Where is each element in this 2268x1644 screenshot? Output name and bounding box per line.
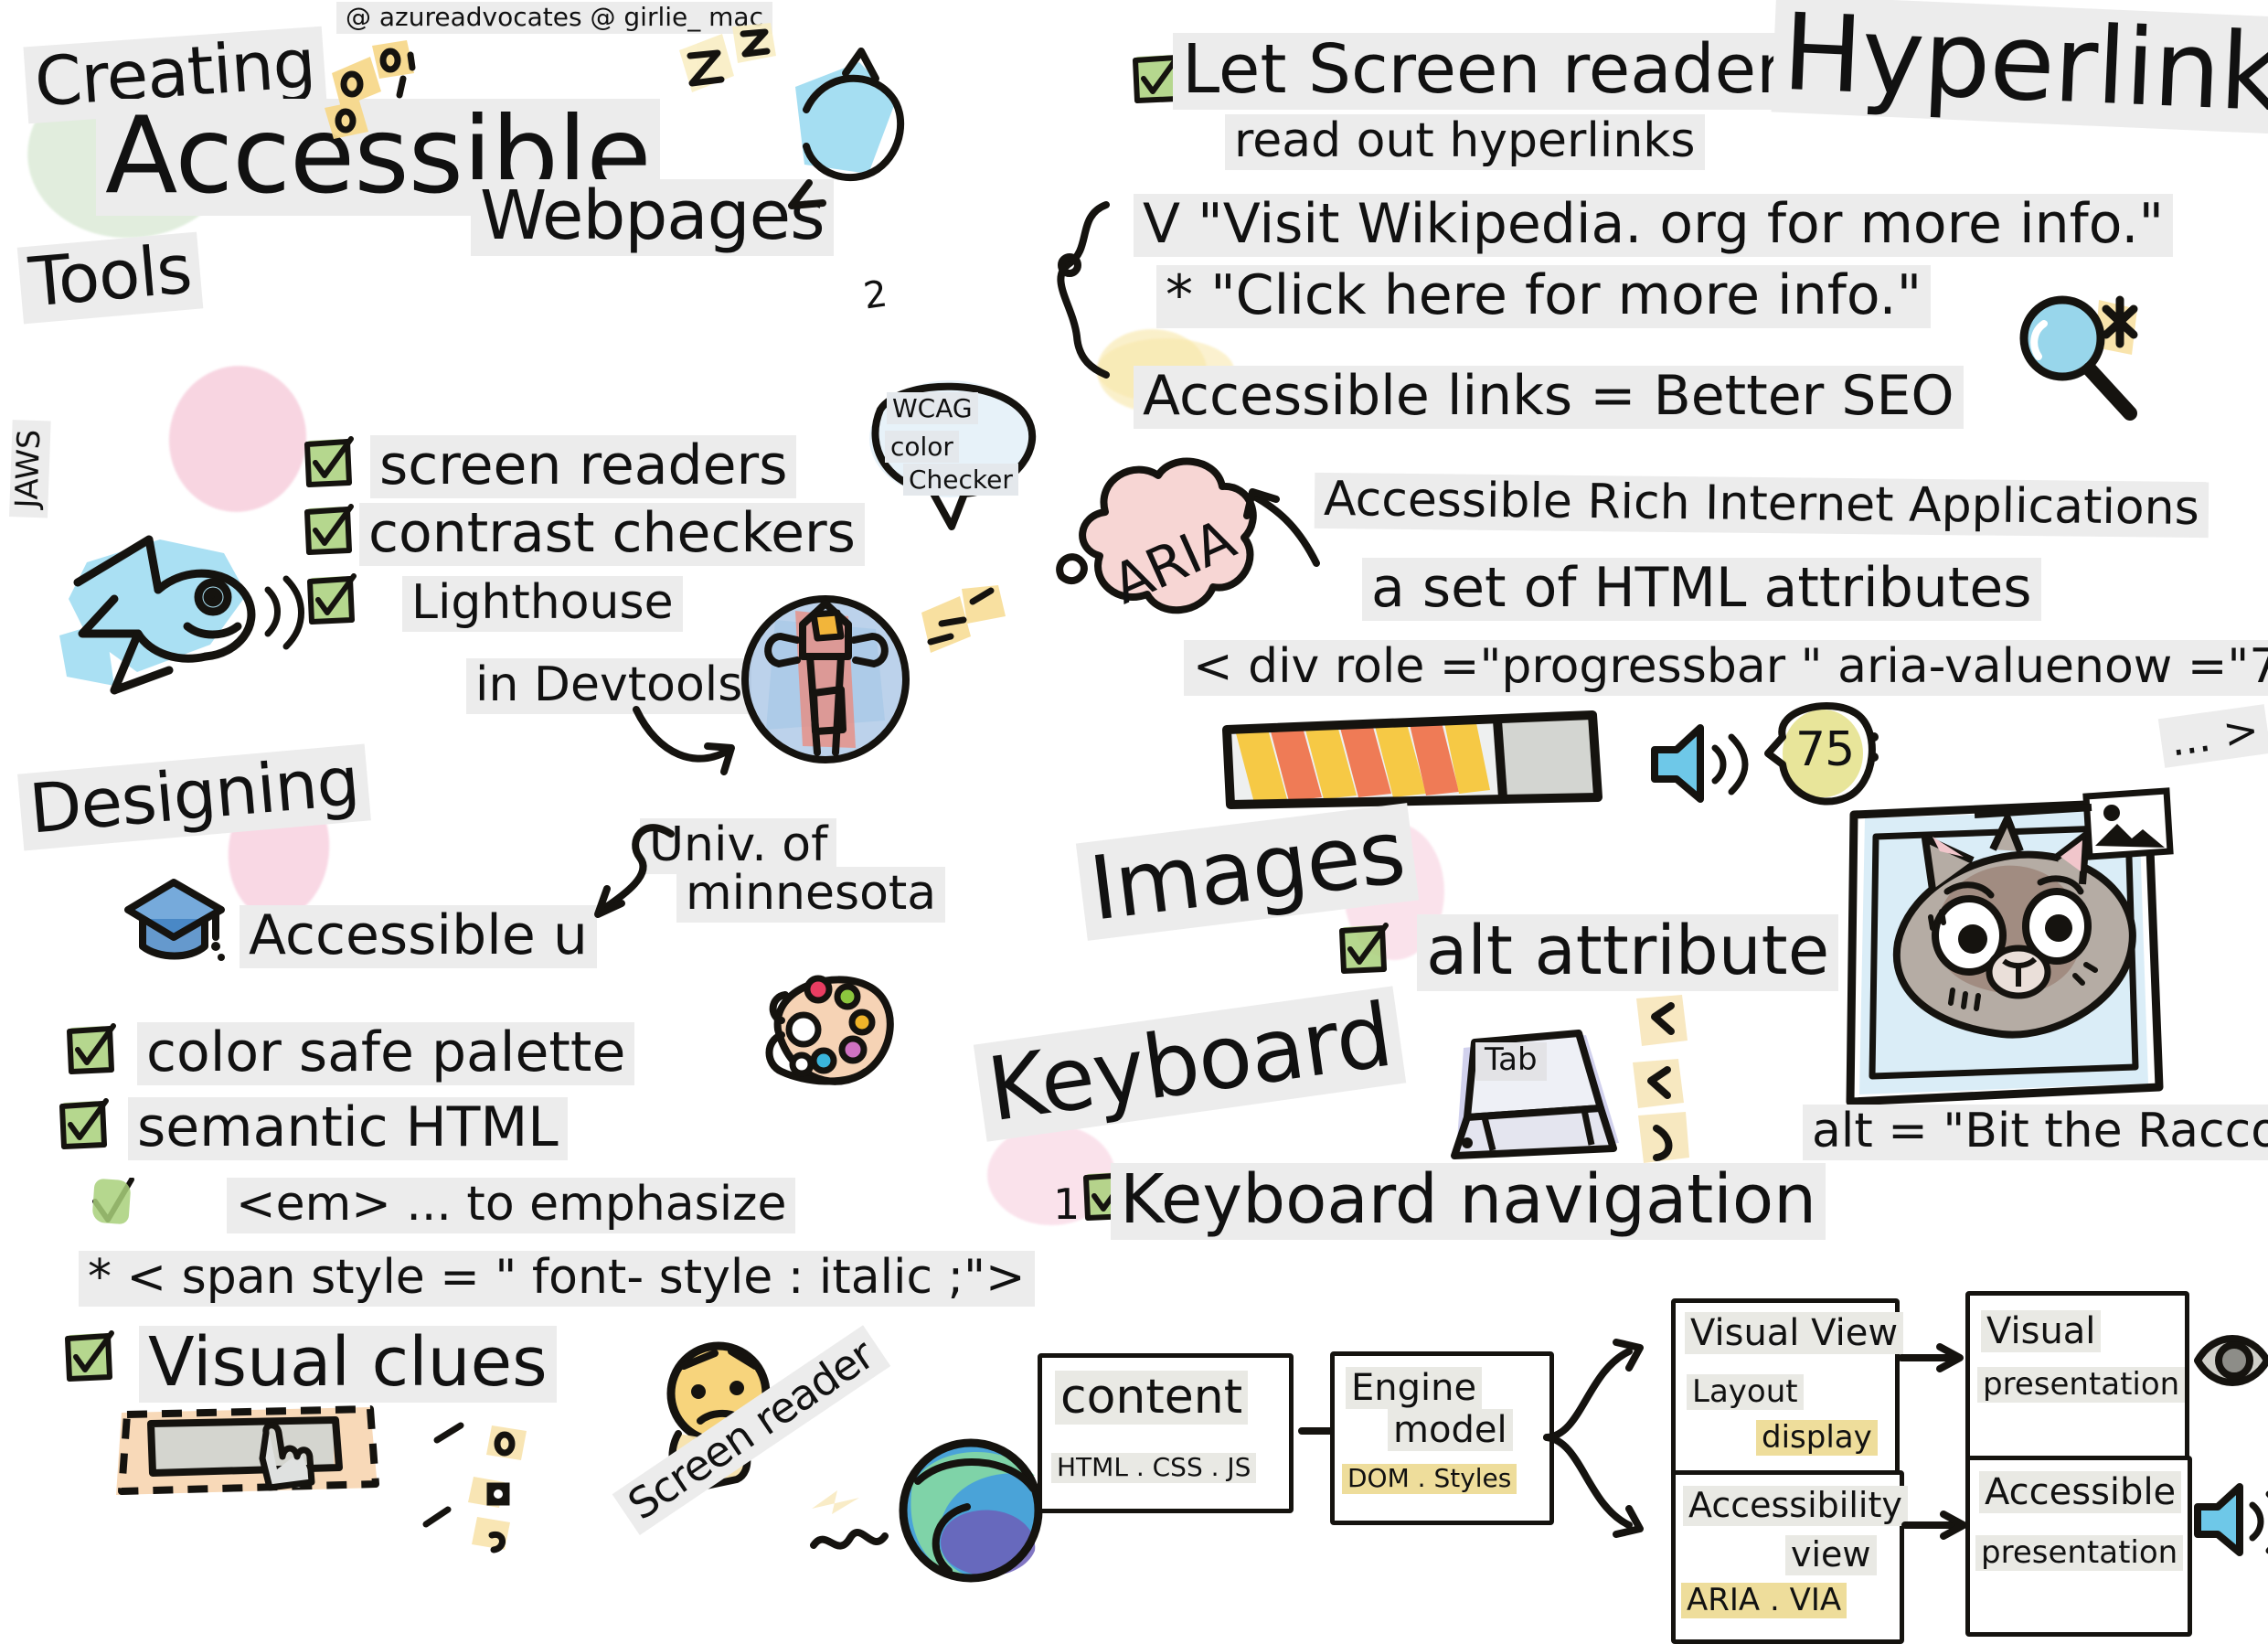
aria-code-left: < div role ="progressbar " aria-valuenow… — [1184, 640, 2268, 696]
tools-item-label: Lighthouse — [402, 576, 683, 632]
tools-item-lighthouse: Lighthouse — [402, 576, 683, 632]
hyperlinks-rule-line1-text: Let Screen reader — [1173, 33, 1794, 110]
wcag-line3-text: Checker — [903, 464, 1018, 496]
doodle-squiggle-edge — [804, 1490, 914, 1573]
checkbox-alt-attribute[interactable] — [1336, 923, 1388, 975]
node-sub: ARIA . VIA — [1681, 1583, 1847, 1618]
wcag-bubble-line3: Checker — [903, 464, 1018, 495]
tools-item-screen-readers: screen readers — [370, 435, 796, 498]
flow-node-accessibility-view: Accessibility view ARIA . VIA — [1671, 1470, 1895, 1635]
aria-definition: a set of HTML attributes — [1362, 558, 2041, 621]
checkbox-color-safe-palette[interactable] — [64, 1024, 115, 1075]
flow-visual-pres-sub: presentation — [1977, 1367, 2185, 1403]
graduation-cap-icon — [121, 873, 230, 974]
node-sub: HTML . CSS . JS — [1051, 1453, 1256, 1483]
doodle-sparkles-bottom-left — [421, 1422, 539, 1568]
keyboard-item-prefix-text: 1 — [1053, 1180, 1080, 1229]
designing-course-text: Accessible u — [240, 905, 597, 968]
lighthouse-icon — [739, 592, 912, 766]
hyperlinks-bad-example-text: * "Click here for more info." — [1156, 265, 1931, 328]
designing-course-source-line2: minnesota — [676, 867, 945, 923]
wcag-bubble-line2: color — [885, 432, 959, 462]
images-item-alt-attribute: alt attribute — [1417, 914, 1838, 991]
confetti-doodle-top — [315, 37, 480, 155]
aria-expansion-text: Accessible Rich Internet Applications — [1315, 473, 2209, 538]
flow-node-visual-view: Visual View Layout display — [1671, 1298, 1890, 1477]
designing-item-color-safe-palette: color safe palette — [137, 1022, 634, 1085]
arrow-aria-to-expansion — [1216, 475, 1326, 585]
wcag-line1-text: WCAG — [887, 392, 978, 424]
tab-key-label: Tab — [1475, 1042, 1547, 1081]
tick-emphasize[interactable] — [90, 1178, 135, 1229]
designing-item-emphasize: <em> ... to emphasize — [227, 1178, 795, 1233]
node-title-a: Engine — [1346, 1367, 1482, 1409]
node-face: Visual presentation — [1965, 1291, 2189, 1469]
flow-visual-view-title: Visual View — [1685, 1312, 1903, 1354]
flow-a11y-view-sub: ARIA . VIA — [1681, 1583, 1847, 1618]
node-title-b: view — [1785, 1535, 1877, 1575]
shark-mascot-icon — [50, 526, 325, 709]
aria-code-left-text: < div role ="progressbar " aria-valuenow… — [1184, 640, 2268, 696]
tab-key-label-text: Tab — [1475, 1042, 1547, 1081]
aria-code-right: ... > — [2158, 704, 2268, 768]
node-sub: DOM . Styles — [1342, 1464, 1517, 1494]
node-title: content — [1055, 1371, 1248, 1425]
flow-node-content: content HTML . CSS . JS — [1038, 1353, 1284, 1504]
keyboard-item-label: Keyboard navigation — [1111, 1163, 1826, 1240]
tools-item-label: screen readers — [370, 435, 796, 498]
speaker-icon-output — [2190, 1479, 2268, 1562]
hyperlinks-heading-text: Hyperlinks — [1772, 0, 2268, 136]
edge-browser-icon — [896, 1436, 1051, 1591]
node-face: Accessible presentation — [1965, 1456, 2192, 1637]
node-title: Visual View — [1685, 1312, 1903, 1354]
flow-engine-title-a: Engine — [1346, 1367, 1482, 1409]
images-item-label: alt attribute — [1417, 914, 1838, 991]
flow-visual-pres-title: Visual — [1981, 1310, 2101, 1352]
aria-expansion: Accessible Rich Internet Applications — [1315, 473, 2209, 538]
keyboard-item-prefix: 1 — [1053, 1180, 1080, 1229]
designing-item-visual-clues: Visual clues — [139, 1326, 557, 1403]
eye-icon — [2194, 1324, 2268, 1397]
designing-item-label: color safe palette — [137, 1022, 634, 1085]
checkbox-screen-readers[interactable] — [302, 437, 353, 488]
jaws-label-text: JAWS — [9, 420, 50, 518]
hyperlinks-bad-example: * "Click here for more info." — [1156, 265, 1931, 328]
flow-engine-title-b: model — [1388, 1409, 1513, 1451]
page-number-2: 2 — [861, 272, 890, 317]
arrow-course-source — [576, 814, 686, 933]
designing-course-label: Accessible u — [240, 905, 597, 968]
checkbox-visual-clues[interactable] — [62, 1331, 113, 1382]
designing-item-label: <em> ... to emphasize — [227, 1178, 795, 1233]
node-sub-b: display — [1756, 1420, 1878, 1456]
designing-item-label: semantic HTML — [128, 1097, 568, 1160]
shark-head-doodle — [759, 46, 942, 229]
node-sub-a: Layout — [1687, 1374, 1804, 1410]
keyboard-heading: Keyboard — [974, 986, 1407, 1141]
tick-fill — [91, 1179, 131, 1225]
hyperlinks-rule-line1: Let Screen reader — [1173, 33, 1794, 110]
node-sub: presentation — [1977, 1367, 2185, 1403]
designing-code-note: * < span style = " font- style : italic … — [79, 1251, 1035, 1307]
sketchnote-canvas: @ azureadvocates @ girlie_ mac Creating … — [0, 0, 2268, 1599]
hyperlinks-seo-note: Accessible links = Better SEO — [1134, 366, 1964, 429]
flow-node-visual-presentation: Visual presentation — [1965, 1291, 2180, 1460]
focus-ring-illustration — [96, 1404, 407, 1541]
palette-icon — [745, 969, 910, 1116]
designing-code-note-text: * < span style = " font- style : italic … — [79, 1251, 1035, 1307]
tools-item-label: contrast checkers — [359, 503, 865, 566]
speaker-icon-progress — [1645, 719, 1764, 810]
curly-brace-examples — [1049, 199, 1132, 382]
node-sub: presentation — [1975, 1535, 2183, 1571]
node-title: Accessible — [1979, 1471, 2181, 1513]
flow-a11y-view-title-a: Accessibility — [1683, 1486, 1908, 1526]
flow-visual-view-sub-b: display — [1756, 1420, 1878, 1456]
node-title-a: Accessibility — [1683, 1486, 1908, 1526]
tools-item-contrast-checkers: contrast checkers — [359, 503, 865, 566]
tab-arrows-doodle — [1618, 995, 1719, 1178]
node-face: content HTML . CSS . JS — [1038, 1353, 1294, 1513]
images-alt-example-text: alt = "Bit the Raccoon" — [1803, 1105, 2268, 1160]
keyboard-heading-text: Keyboard — [974, 986, 1407, 1141]
flow-acc-pres-sub: presentation — [1975, 1535, 2183, 1571]
node-face: Engine model DOM . Styles — [1330, 1351, 1554, 1525]
confetti-doodle-lighthouse — [914, 585, 1042, 704]
arrow-visualview-to-visualpres — [1900, 1340, 1967, 1376]
designing-item-label: Visual clues — [139, 1326, 557, 1403]
flow-content-sub: HTML . CSS . JS — [1051, 1453, 1256, 1483]
images-alt-example: alt = "Bit the Raccoon" — [1803, 1105, 2268, 1160]
aria-code-right-text: ... > — [2158, 704, 2268, 768]
node-title: Visual — [1981, 1310, 2101, 1352]
magnifier-icon — [2011, 291, 2157, 428]
checkbox-contrast-checkers[interactable] — [302, 505, 353, 556]
flow-visual-view-sub-a: Layout — [1687, 1374, 1804, 1410]
progress-value-text: 75 — [1795, 722, 1854, 777]
hyperlinks-heading: Hyperlinks — [1772, 0, 2268, 136]
aria-definition-text: a set of HTML attributes — [1362, 558, 2041, 621]
jaws-label: JAWS — [9, 420, 50, 518]
flow-node-accessible-presentation: Accessible presentation — [1965, 1456, 2183, 1628]
tools-heading-text: Tools — [17, 232, 204, 325]
flow-engine-sub: DOM . Styles — [1342, 1464, 1517, 1494]
flow-acc-pres-title: Accessible — [1979, 1471, 2181, 1513]
hyperlinks-good-example-text: V "Visit Wikipedia. org for more info." — [1134, 194, 2173, 257]
flow-node-engine: Engine model DOM . Styles — [1330, 1351, 1545, 1516]
progress-value-label: 75 — [1795, 722, 1854, 777]
node-face: Accessibility view ARIA . VIA — [1671, 1470, 1904, 1644]
checkbox-lighthouse[interactable] — [304, 574, 356, 625]
flow-a11y-view-title-b: view — [1785, 1535, 1877, 1575]
tab-key-icon — [1440, 1015, 1632, 1170]
branch-connector — [1545, 1308, 1664, 1573]
wcag-line2-text: color — [885, 431, 959, 463]
arrow-a11yview-to-a11ypres — [1903, 1507, 1971, 1543]
raccoon-photo-frame — [1837, 782, 2221, 1148]
hyperlinks-seo-note-text: Accessible links = Better SEO — [1134, 366, 1964, 429]
node-title-b: model — [1388, 1409, 1513, 1451]
hyperlinks-rule-line2-text: read out hyperlinks — [1225, 114, 1705, 170]
designing-item-semantic-html: semantic HTML — [128, 1097, 568, 1160]
progressbar-sketch — [1223, 711, 1644, 812]
course-source-line2-text: minnesota — [676, 867, 945, 923]
keyboard-item-navigation: Keyboard navigation — [1111, 1163, 1826, 1240]
tools-heading: Tools — [17, 232, 204, 325]
hyperlinks-good-example: V "Visit Wikipedia. org for more info." — [1134, 194, 2173, 257]
wcag-bubble-line1: WCAG — [887, 393, 978, 423]
flow-content-title: content — [1055, 1371, 1248, 1425]
checkbox-semantic-html[interactable] — [57, 1099, 108, 1150]
hyperlinks-rule-line2: read out hyperlinks — [1225, 114, 1705, 170]
node-face: Visual View Layout display — [1671, 1298, 1900, 1486]
splotch-pink-tools — [160, 357, 316, 520]
